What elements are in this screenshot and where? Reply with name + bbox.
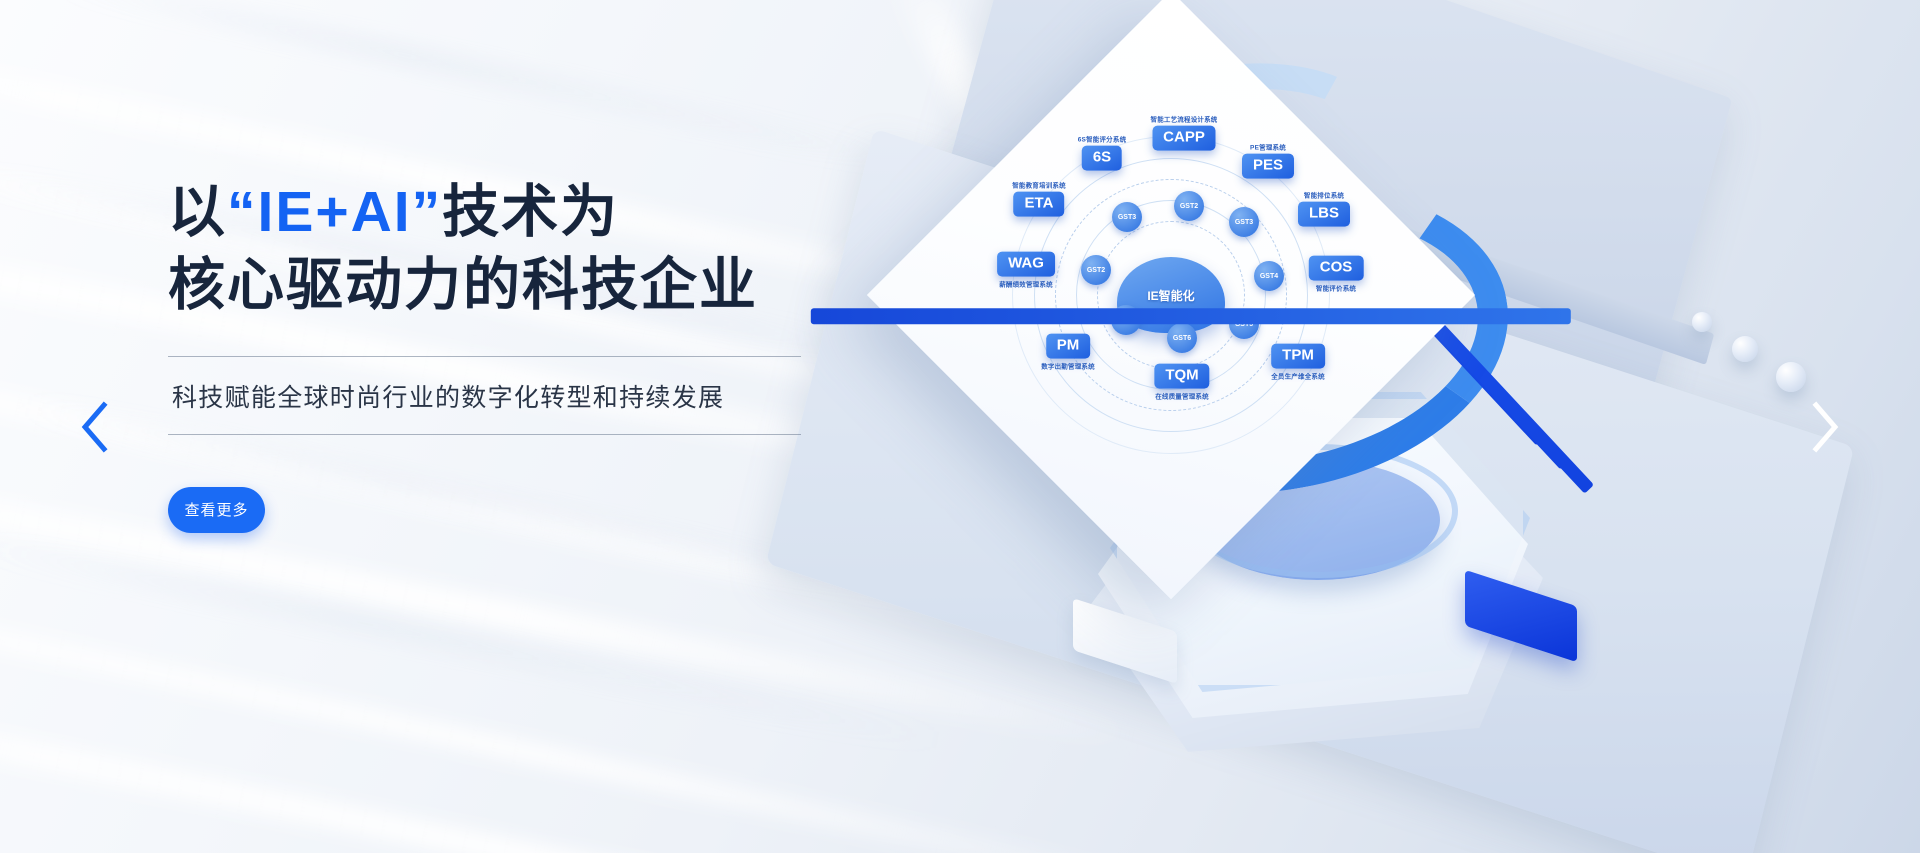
diagram-node-code: CAPP (1152, 126, 1216, 151)
diagram-node-caption: 智能评价系统 (1316, 282, 1356, 292)
diagram-node-capp: 智能工艺流程设计系统CAPP (1151, 114, 1218, 151)
card-accent-stripe (811, 308, 1571, 324)
diagram-card: IE智能化 GST3GST2GST3GST2GST4GST1GST5GST6 6… (867, 0, 1475, 599)
diagram-node-code: PES (1242, 154, 1294, 179)
hero-content: 以“IE+AI”技术为 核心驱动力的科技企业 科技赋能全球时尚行业的数字化转型和… (168, 176, 828, 533)
chevron-right-icon (1808, 400, 1842, 454)
headline-line-1: 以“IE+AI”技术为 (168, 176, 828, 249)
carousel-prev-button[interactable] (78, 400, 112, 454)
view-more-button[interactable]: 查看更多 (168, 487, 265, 533)
diagram-satellite-node: GST3 (1229, 207, 1259, 237)
subtitle-divider-top (168, 356, 801, 357)
diagram-satellite-node: GST4 (1254, 261, 1284, 291)
headline-quote-close: ” (412, 180, 443, 244)
decor-sphere-1 (1692, 312, 1712, 332)
diagram-node-code: TPM (1271, 344, 1325, 369)
diagram-node-code: LBS (1298, 202, 1350, 227)
diagram-node-caption: 智能排位系统 (1304, 190, 1344, 200)
diagram-node-cos: 智能评价系统COS (1309, 256, 1364, 293)
diagram-node-caption: 6S智能评分系统 (1078, 134, 1127, 144)
headline-quote-open: “ (227, 180, 258, 244)
headline-highlight: IE+AI (258, 180, 412, 244)
diagram-node-code: PM (1046, 334, 1091, 359)
diagram-node-tpm: 全员生产维全系统TPM (1271, 344, 1325, 381)
diagram-node-6s: 6S智能评分系统6S (1078, 134, 1127, 171)
diagram-satellite-label: GST3 (1235, 219, 1253, 226)
diagram-node-code: ETA (1014, 192, 1065, 217)
hero-banner: IE智能化 GST3GST2GST3GST2GST4GST1GST5GST6 6… (0, 0, 1920, 853)
diagram-node-caption: 全员生产维全系统 (1271, 370, 1325, 380)
subtitle-divider-bottom (168, 434, 801, 435)
diagram-satellite-node: GST3 (1112, 202, 1142, 232)
diagram-node-pes: PE管理系统PES (1242, 142, 1294, 179)
carousel-next-button[interactable] (1808, 400, 1842, 454)
headline-line-2: 核心驱动力的科技企业 (168, 249, 828, 322)
diagram-node-pm: 数字出勤管理系统PM (1041, 334, 1095, 371)
headline-prefix: 以 (168, 180, 227, 244)
diagram-node-code: COS (1309, 256, 1364, 281)
decor-sphere-3 (1776, 362, 1806, 392)
hero-illustration: IE智能化 GST3GST2GST3GST2GST4GST1GST5GST6 6… (860, 0, 1920, 853)
diagram-satellite-node: GST2 (1081, 255, 1111, 285)
diagram-satellite-label: GST6 (1173, 335, 1191, 342)
diagram-satellite-label: GST2 (1087, 267, 1105, 274)
diagram-node-code: TQM (1154, 364, 1209, 389)
diagram-satellite-label: GST2 (1180, 203, 1198, 210)
diagram-node-caption: 在线质量管理系统 (1155, 390, 1209, 400)
diagram-node-tqm: 在线质量管理系统TQM (1154, 364, 1209, 401)
diagram-node-wag: 薪酬绩效管理系统WAG (997, 252, 1055, 289)
diagram-node-caption: 数字出勤管理系统 (1041, 360, 1095, 370)
diagram-node-caption: 薪酬绩效管理系统 (999, 278, 1053, 288)
diagram-satellite-label: GST3 (1118, 214, 1136, 221)
diagram-node-caption: 智能教育培训系统 (1012, 180, 1066, 190)
diagram-satellite-node: GST2 (1174, 191, 1204, 221)
decor-sphere-2 (1732, 336, 1758, 362)
diagram-node-code: WAG (997, 252, 1055, 277)
diagram-satellite-label: GST4 (1260, 273, 1278, 280)
diagram-node-lbs: 智能排位系统LBS (1298, 190, 1350, 227)
diagram-node-code: 6S (1082, 146, 1122, 171)
diagram-center-label: IE智能化 (1147, 287, 1194, 304)
diagram-satellite-node: GST6 (1167, 323, 1197, 353)
ie-intelligence-diagram: IE智能化 GST3GST2GST3GST2GST4GST1GST5GST6 6… (956, 80, 1386, 510)
diagram-node-caption: PE管理系统 (1250, 142, 1286, 152)
diagram-node-eta: 智能教育培训系统ETA (1012, 180, 1066, 217)
page-subtitle: 科技赋能全球时尚行业的数字化转型和持续发展 (168, 357, 828, 434)
headline-suffix: 技术为 (442, 180, 619, 244)
page-title: 以“IE+AI”技术为 核心驱动力的科技企业 (168, 176, 828, 322)
diagram-node-caption: 智能工艺流程设计系统 (1151, 114, 1218, 124)
chevron-left-icon (78, 400, 112, 454)
